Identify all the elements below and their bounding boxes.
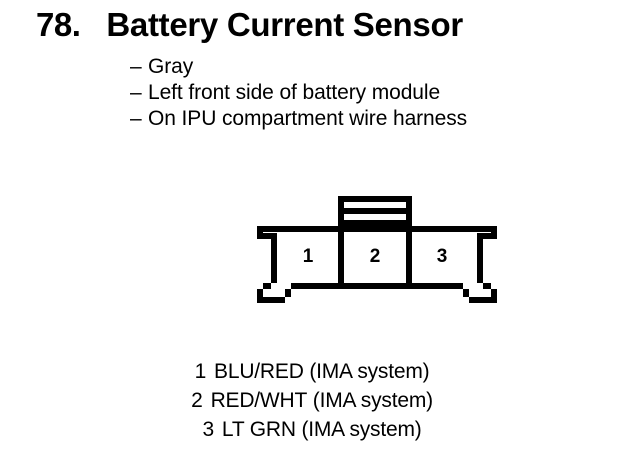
- pin-number-1: 1: [303, 246, 314, 267]
- list-item-label: Left front side of battery module: [148, 80, 440, 106]
- list-item-label: Gray: [148, 54, 193, 80]
- page-title: 78. Battery Current Sensor: [36, 6, 463, 44]
- component-name: Battery Current Sensor: [106, 6, 463, 44]
- dash-icon: –: [130, 80, 148, 106]
- list-item: – Gray: [130, 54, 600, 80]
- pin-legend-wire: RED/WHT: [211, 389, 308, 412]
- pin-number-3: 3: [437, 246, 448, 267]
- pin-legend-wire: LT GRN: [222, 418, 296, 441]
- cell-divider-left: [338, 226, 344, 289]
- pin-legend-row: 3LT GRN (IMA system): [0, 415, 624, 444]
- connector-diagram: 1 2 3: [246, 190, 508, 312]
- list-item-label: On IPU compartment wire harness: [148, 106, 467, 132]
- pin-legend-index: 3: [202, 418, 213, 441]
- pin-legend-wire: BLU/RED: [214, 360, 304, 383]
- dash-icon: –: [130, 106, 148, 132]
- pin-legend-row: 2RED/WHT (IMA system): [0, 386, 624, 415]
- pin-legend-system: (IMA system): [301, 418, 421, 441]
- pin-legend: 1BLU/RED (IMA system) 2RED/WHT (IMA syst…: [0, 357, 624, 444]
- pin-legend-system: (IMA system): [309, 360, 429, 383]
- pin-legend-index: 1: [195, 360, 206, 383]
- list-item: – On IPU compartment wire harness: [130, 106, 600, 132]
- dash-icon: –: [130, 54, 148, 80]
- pin-number-2: 2: [370, 246, 381, 267]
- item-number: 78.: [36, 6, 80, 44]
- description-list: – Gray – Left front side of battery modu…: [130, 54, 600, 132]
- cell-divider-right: [406, 226, 412, 289]
- pin-legend-system: (IMA system): [313, 389, 433, 412]
- page-canvas: 78. Battery Current Sensor – Gray – Left…: [0, 0, 624, 474]
- pin-legend-row: 1BLU/RED (IMA system): [0, 357, 624, 386]
- pin-legend-index: 2: [191, 389, 202, 412]
- list-item: – Left front side of battery module: [130, 80, 600, 106]
